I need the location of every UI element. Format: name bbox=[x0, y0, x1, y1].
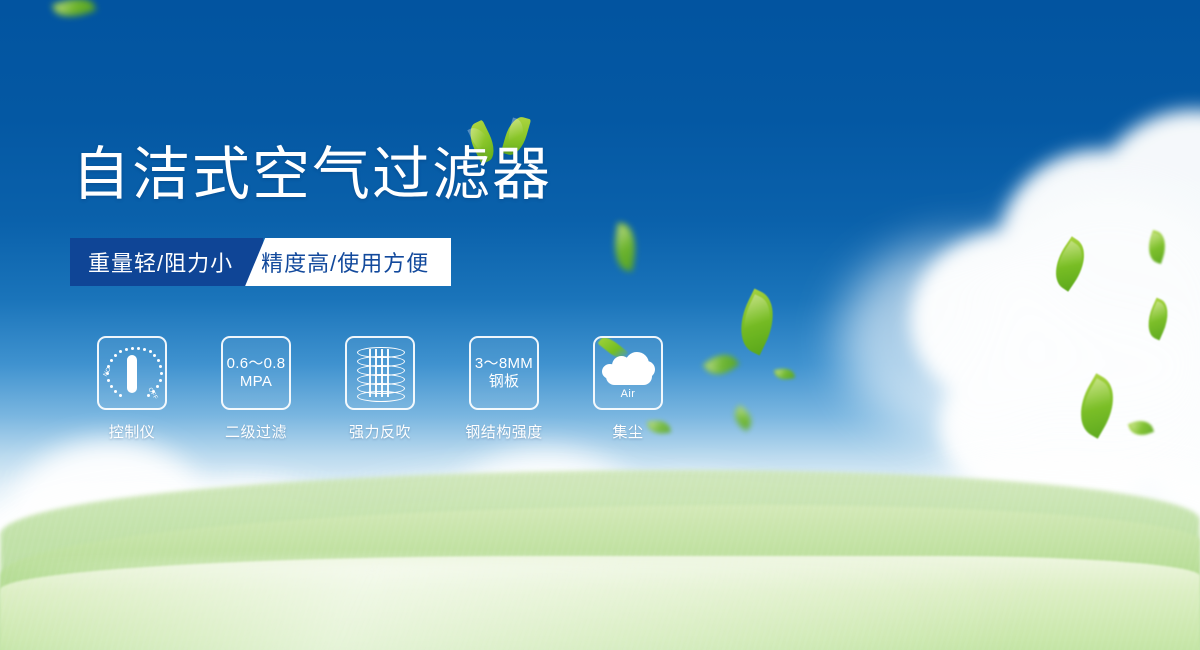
air-label: Air bbox=[600, 388, 656, 400]
feature-steel-strength-label: 钢结构强度 bbox=[465, 421, 543, 442]
cloud-base-icon bbox=[606, 368, 652, 385]
pressure-unit: MPA bbox=[227, 373, 286, 391]
feature-dust-collection-label: 集尘 bbox=[612, 421, 643, 442]
steel-thickness: 3～8MM bbox=[475, 355, 533, 373]
feature-controller-box: NO OFF bbox=[97, 336, 167, 410]
feature-two-stage-filter[interactable]: 0.6～0.8 MPA 二级过滤 bbox=[194, 336, 318, 442]
feature-controller[interactable]: NO OFF 控制仪 bbox=[70, 336, 194, 442]
feature-strong-backblow-label: 强力反吹 bbox=[349, 421, 411, 442]
pressure-text-icon: 0.6～0.8 MPA bbox=[227, 355, 286, 391]
feature-two-stage-filter-box: 0.6～0.8 MPA bbox=[221, 336, 291, 410]
banner-content: 自洁式空气过滤器 重量轻/阻力小 精度高/使用方便 bbox=[0, 0, 1200, 650]
feature-steel-strength[interactable]: 3～8MM 钢板 钢结构强度 bbox=[442, 336, 566, 442]
page-title: 自洁式空气过滤器 bbox=[72, 140, 552, 210]
steel-plate-text-icon: 3～8MM 钢板 bbox=[475, 355, 533, 391]
feature-dust-collection[interactable]: Air 集尘 bbox=[566, 336, 690, 442]
feature-list: NO OFF 控制仪 0.6～0.8 MPA 二级过滤 bbox=[70, 336, 690, 442]
feature-strong-backblow-box bbox=[345, 336, 415, 410]
pressure-value: 0.6～0.8 bbox=[227, 355, 286, 373]
badge-weight-resistance: 重量轻/阻力小 bbox=[70, 238, 263, 286]
gauge-needle-icon bbox=[127, 355, 137, 393]
gauge-dial-icon: NO OFF bbox=[103, 344, 161, 402]
feature-strong-backblow[interactable]: 强力反吹 bbox=[318, 336, 442, 442]
feature-steel-strength-box: 3～8MM 钢板 bbox=[469, 336, 539, 410]
cloud-air-icon: Air bbox=[600, 348, 656, 398]
steel-material: 钢板 bbox=[475, 373, 533, 391]
feature-two-stage-filter-label: 二级过滤 bbox=[225, 421, 287, 442]
badge-precision-convenience: 精度高/使用方便 bbox=[245, 238, 451, 286]
promo-banner: 自洁式空气过滤器 重量轻/阻力小 精度高/使用方便 bbox=[0, 0, 1200, 650]
gauge-on-label: NO bbox=[103, 366, 113, 377]
subtitle-badges: 重量轻/阻力小 精度高/使用方便 bbox=[70, 238, 451, 286]
feature-controller-label: 控制仪 bbox=[109, 421, 156, 442]
coil-stack-icon bbox=[357, 347, 403, 399]
gauge-off-label: OFF bbox=[147, 387, 159, 401]
feature-dust-collection-box: Air bbox=[593, 336, 663, 410]
